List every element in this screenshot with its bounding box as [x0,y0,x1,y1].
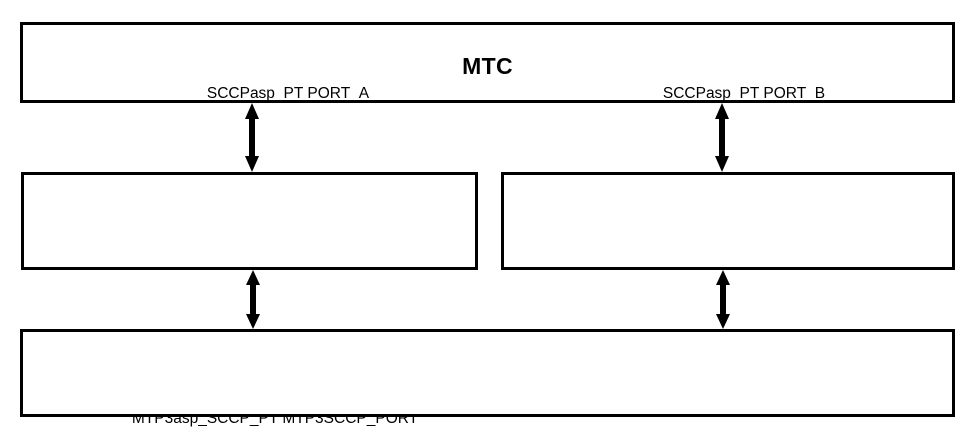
node-sccp-b: SCCPasp_SP_PT SCCP_SP_PORT SCCP “B” MTP3… [501,172,955,270]
connector-sccp-b-to-mtp3sim [711,270,735,329]
node-mtc: MTC SCCPasp_PT PORT_A SCCPasp_PT PORT_B [20,22,955,103]
diagram-canvas: MTC SCCPasp_PT PORT_A SCCPasp_PT PORT_B … [0,0,976,442]
connector-mtc-to-sccp-a [240,103,264,172]
port-label-sccpasp-pt-port-a: SCCPasp_PT PORT_A [207,85,369,103]
port-label-sccpasp-pt-port-b: SCCPasp_PT PORT_B [663,85,825,103]
node-mtp3sim: MTP3asp_SP_PT MTP_PORT_A MTP3asp_SP_PT M… [20,329,955,417]
connector-sccp-a-to-mtp3sim [241,270,265,329]
node-sccp-a: SCCPasp_SP_PT SCCP_SP_PORT SCCP “A” MTP3… [21,172,478,270]
connector-mtc-to-sccp-b [710,103,734,172]
node-mtc-title: MTC [23,53,952,80]
